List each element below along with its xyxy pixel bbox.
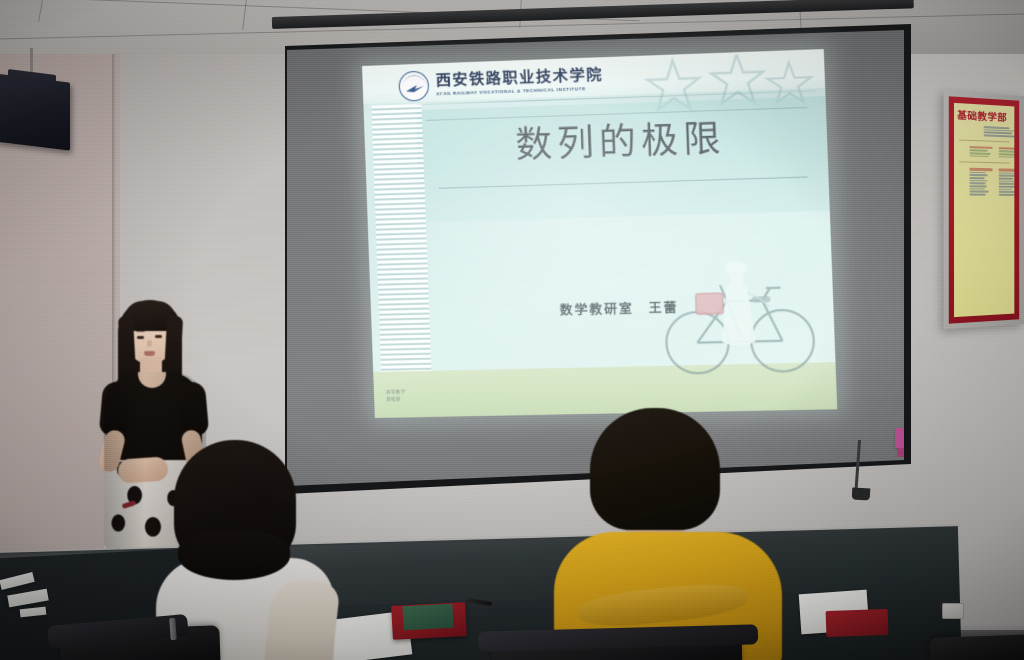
poster-lower-headings bbox=[957, 167, 1011, 197]
chair-right[interactable] bbox=[930, 634, 1024, 660]
attendee-left-hair-ends bbox=[178, 532, 290, 580]
poster-title: 基础教学部 bbox=[957, 107, 1011, 124]
slide-corner-note-2: 基础部 bbox=[386, 396, 406, 404]
seated-attendee-right bbox=[548, 408, 788, 660]
presenter-sleeve-right bbox=[177, 381, 210, 437]
poster-content: 基础教学部 bbox=[954, 103, 1014, 317]
poster-leadership-rows bbox=[972, 126, 1012, 138]
wall-poster-frame: 基础教学部 bbox=[944, 91, 1024, 330]
projected-slide: 西安铁路职业技术学院 XI'AN RAILWAY VOCATIONAL & TE… bbox=[362, 49, 837, 418]
presenter-nose bbox=[147, 340, 152, 347]
pink-clip-icon bbox=[895, 428, 904, 448]
speaker-body bbox=[0, 73, 70, 150]
poster-branch-headings bbox=[957, 144, 1011, 159]
presenter-sleeve-left bbox=[99, 381, 132, 437]
attendee-right-hair bbox=[590, 408, 720, 530]
green-notepad bbox=[402, 604, 453, 631]
classroom-photo: 西安铁路职业技术学院 XI'AN RAILWAY VOCATIONAL & TE… bbox=[0, 0, 1024, 660]
wall-power-outlet[interactable] bbox=[942, 603, 964, 619]
institution-seal-icon bbox=[398, 71, 429, 102]
bicycle-illustration-icon bbox=[657, 246, 828, 384]
red-notebook-secondary bbox=[826, 609, 889, 637]
slide-corner-note: 高等数学 基础部 bbox=[386, 388, 406, 404]
poster-red-border: 基础教学部 bbox=[949, 96, 1019, 323]
presenter-mouth bbox=[144, 351, 155, 356]
pink-clip-secondary-icon bbox=[897, 448, 904, 457]
screen-bottom-hook bbox=[852, 488, 871, 501]
